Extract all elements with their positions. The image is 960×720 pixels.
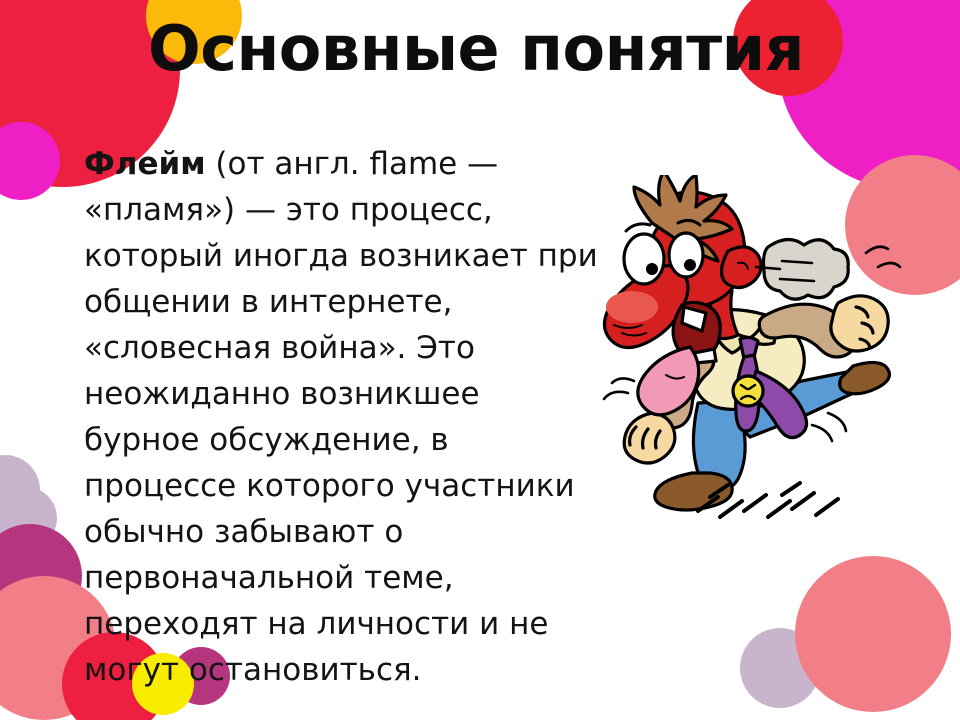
motion-lines-right: [812, 413, 846, 441]
nose-highlight: [606, 291, 658, 323]
angry-badge-icon: [733, 376, 763, 406]
pupil-right: [684, 259, 696, 271]
angry-man-illustration: [570, 175, 930, 530]
circle-salmon-bottom-right: [795, 556, 951, 712]
brow-left: [626, 224, 650, 231]
slide-title: Основные понятия: [148, 16, 848, 81]
left-hand: [624, 413, 675, 463]
body-lead-term: Флейм: [84, 146, 206, 182]
eye-left-white: [624, 234, 664, 284]
circle-purple-bottom-left: [0, 524, 82, 628]
circle-lavender-bottom-right: [740, 628, 820, 708]
pupil-left: [646, 263, 658, 275]
angry-man-svg: [570, 175, 930, 530]
circle-magenta-top-left: [0, 122, 60, 200]
eye-right-white: [669, 233, 703, 277]
slide-body-text: Флейм (от англ. flame — «пламя») — это п…: [84, 141, 604, 693]
motion-lines-arm: [866, 247, 900, 267]
raised-fist: [831, 296, 888, 351]
slide-canvas: Основные понятия Флейм (от англ. flame —…: [0, 0, 960, 720]
body-rest-text: (от англ. flame — «пламя») — это процесс…: [84, 146, 598, 688]
circle-lavender-mid-left: [0, 455, 40, 525]
back-shoe: [840, 362, 890, 393]
circle-lavender-bottom-left: [0, 487, 57, 549]
motion-lines-left: [604, 378, 634, 399]
